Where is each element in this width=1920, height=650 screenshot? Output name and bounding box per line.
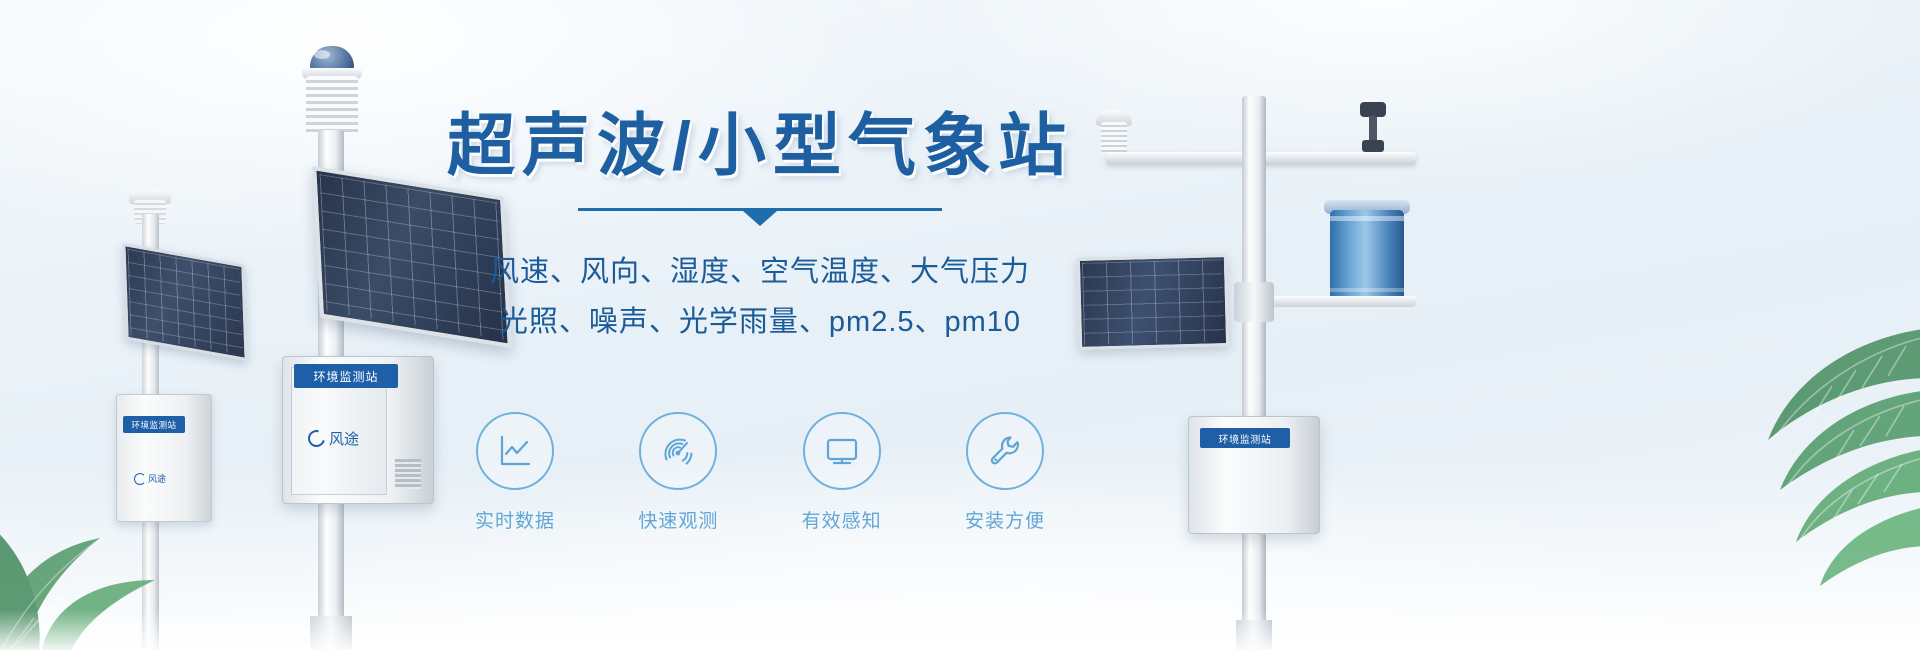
radiation-shield [306,76,358,134]
radiation-shield [1101,122,1127,154]
sonic-stem [1369,116,1377,142]
feature-fast-observation[interactable]: 快速观测 [603,412,753,533]
cabinet-vent [395,459,421,489]
station-mast [1242,96,1266,650]
title-divider [578,208,942,226]
rain-gauge-ring-top [1330,216,1404,221]
tropical-leaf-left-icon [0,430,190,650]
feature-effective-sensing[interactable]: 有效感知 [767,412,917,533]
feature-icon-circle [966,412,1044,490]
banner-text-block: 超声波/小型气象站 风速、风向、湿度、空气温度、大气压力 光照、噪声、光学雨量、… [440,108,1080,348]
product-banner: 环境监测站 风途 环境监测站 风途 [0,0,1920,650]
weather-station-right: 环境监测站 [1060,48,1440,650]
feature-list: 实时数据 快速观测 [440,412,1080,533]
feature-label: 安装方便 [930,506,1080,533]
feature-label: 快速观测 [603,506,753,533]
feature-icon-circle [476,412,554,490]
feature-realtime-data[interactable]: 实时数据 [440,412,590,533]
sonic-bottom-transducer [1362,140,1384,152]
wrench-icon [985,431,1025,471]
solar-panel [1077,254,1229,350]
radar-scan-icon [658,431,698,471]
cabinet-nameplate: 环境监测站 [294,364,398,388]
divider-triangle-icon [743,211,777,226]
ultrasonic-wind-sensor [1360,102,1386,156]
banner-subtitle: 风速、风向、湿度、空气温度、大气压力 光照、噪声、光学雨量、pm2.5、pm10 [440,248,1080,348]
rain-gauge-ring-bottom [1330,288,1404,292]
station-base [310,616,352,650]
feature-easy-installation[interactable]: 安装方便 [930,412,1080,533]
tropical-leaf-right-icon [1600,320,1920,610]
banner-title: 超声波/小型气象站 [440,108,1080,184]
subtitle-line-1: 风速、风向、湿度、空气温度、大气压力 [440,248,1080,298]
sonic-top-transducer [1360,102,1386,117]
feature-label: 有效感知 [767,506,917,533]
brand-name: 风途 [329,428,359,449]
feature-icon-circle [639,412,717,490]
station-base [1236,620,1272,650]
brand-mark-icon [305,427,328,450]
cabinet-nameplate: 环境监测站 [1200,428,1290,448]
subtitle-line-2: 光照、噪声、光学雨量、pm2.5、pm10 [440,298,1080,348]
optical-rain-gauge [1330,210,1404,302]
feature-label: 实时数据 [440,506,590,533]
mast-hub-bracket [1234,282,1274,322]
feature-icon-circle [803,412,881,490]
monitor-icon [822,431,862,471]
brand-logo: 风途 [308,428,359,449]
line-chart-icon [495,431,535,471]
